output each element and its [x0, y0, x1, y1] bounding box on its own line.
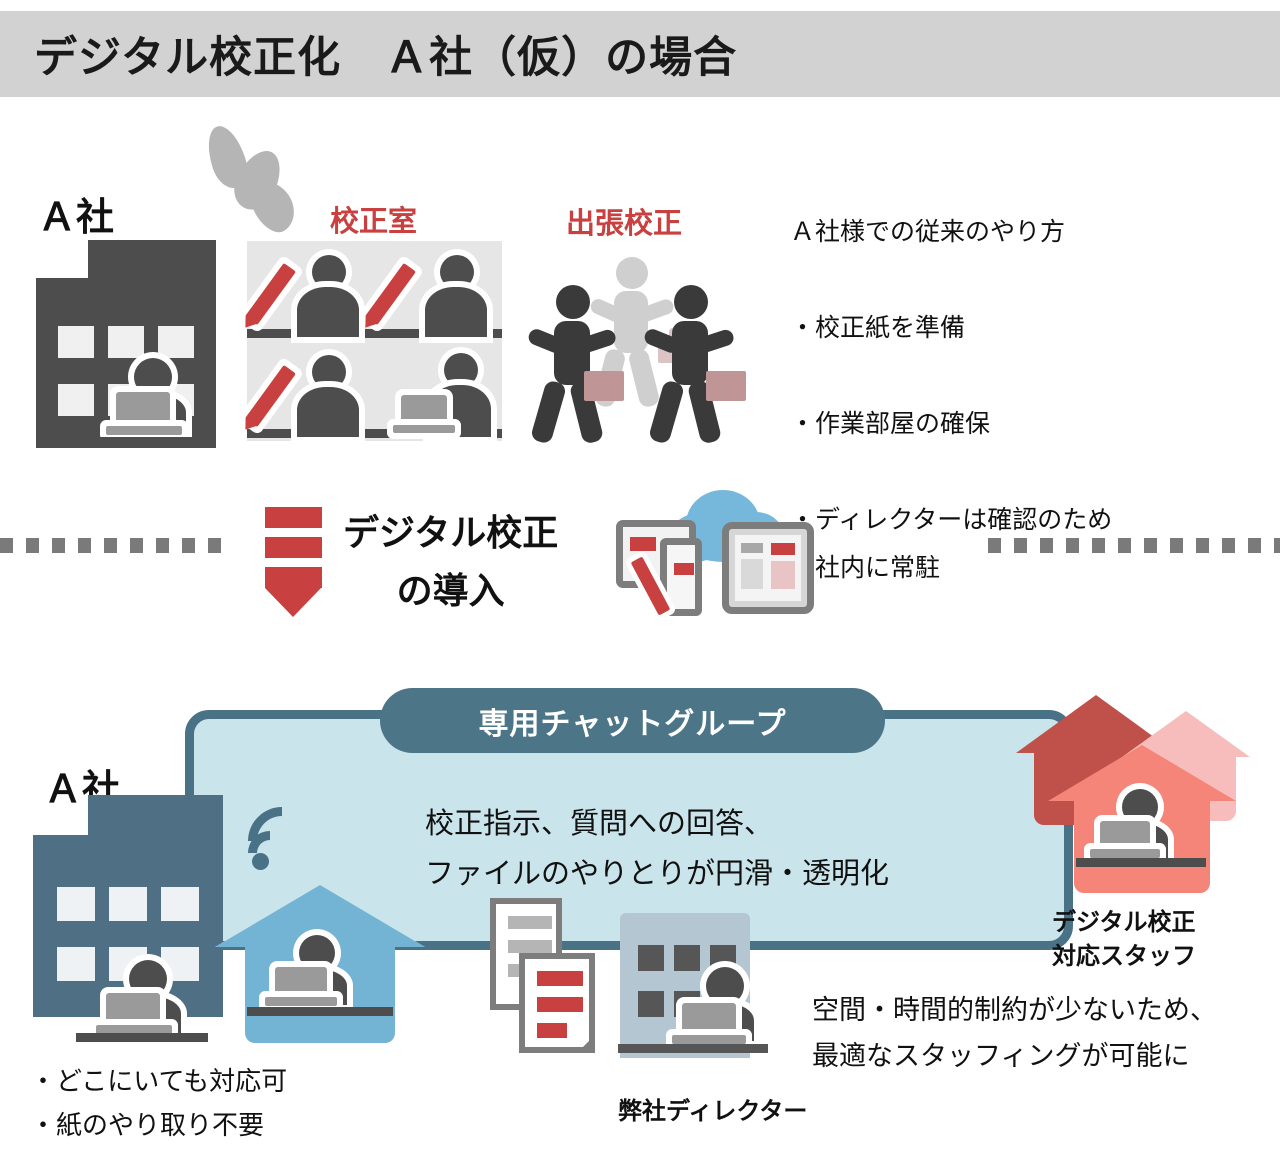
red-pencil-icon-2: [365, 263, 416, 325]
desk-line-office-after: [76, 1033, 208, 1042]
devices-cloud-icon: [598, 490, 878, 620]
staff-caption: デジタル校正 対応スタッフ: [1052, 905, 1196, 973]
bottom-right-note: 空間・時間的制約が少ないため、 最適なスタッフィングが可能に: [812, 988, 1217, 1080]
document-front: [519, 953, 595, 1053]
digital-proof-intro-label: デジタル校正 の導入: [343, 505, 558, 621]
laptop-icon-proof-room: [393, 395, 457, 435]
walker-figure-left: [532, 285, 616, 443]
onsite-proof-label: 出張校正: [566, 200, 682, 242]
infographic-root: デジタル校正化 Ａ社（仮）の場合 Ａ社 校正室: [0, 0, 1280, 1153]
proof-room-person-1: [297, 255, 369, 333]
proof-room-panel: [247, 241, 502, 441]
page-title: デジタル校正化 Ａ社（仮）の場合: [34, 23, 737, 85]
a-company-label-before: Ａ社: [38, 186, 114, 241]
laptop-icon-office-after: [96, 993, 174, 1037]
chat-group-banner-label: 専用チャットグループ: [479, 699, 787, 743]
staff-houses-group: [1010, 695, 1240, 915]
proof-room-label: 校正室: [330, 198, 417, 240]
chat-group-banner: 専用チャットグループ: [380, 688, 885, 753]
laptop-icon-staff: [1090, 821, 1162, 861]
laptop-icon-director: [672, 1003, 748, 1047]
sparkle-burst-icon: [196, 125, 316, 225]
desk-line-office: [64, 437, 214, 446]
divider-dashes-right: [988, 538, 1280, 553]
desk-line-home-blue: [247, 1007, 393, 1016]
title-bar: デジタル校正化 Ａ社（仮）の場合: [0, 11, 1280, 97]
documents-icon: [490, 898, 600, 1056]
desk-line-director: [618, 1044, 768, 1053]
divider-dashes-left: [0, 538, 222, 553]
home-worker-house-blue: [215, 885, 425, 1045]
desk-line-staff: [1076, 858, 1206, 867]
down-arrow-icon: [265, 507, 322, 588]
proof-room-person-2: [425, 255, 497, 333]
red-pencil-icon-3: [245, 365, 296, 427]
tablet-icon-right: [722, 522, 814, 614]
briefcase-icon-left: [584, 371, 624, 401]
wifi-icon: [246, 805, 318, 877]
proof-room-person-3: [297, 355, 369, 433]
document-folded-corner: [577, 1035, 595, 1053]
walker-figure-right: [650, 285, 734, 443]
laptop-icon-home-blue: [265, 967, 339, 1009]
director-building-icon: [620, 913, 760, 1058]
onsite-walkers-group: [530, 255, 735, 445]
house-salmon-front: [1048, 745, 1236, 893]
laptop-icon-office: [106, 392, 184, 436]
bottom-left-bullets: ・どこにいても対応可 ・紙のやり取り不要: [30, 1060, 287, 1148]
director-caption: 弊社ディレクター: [618, 1091, 807, 1126]
chat-benefits-text: 校正指示、質問への回答、 ファイルのやりとりが円滑・透明化: [425, 798, 889, 898]
briefcase-icon-right: [706, 371, 746, 401]
red-pencil-icon-1: [245, 263, 296, 325]
